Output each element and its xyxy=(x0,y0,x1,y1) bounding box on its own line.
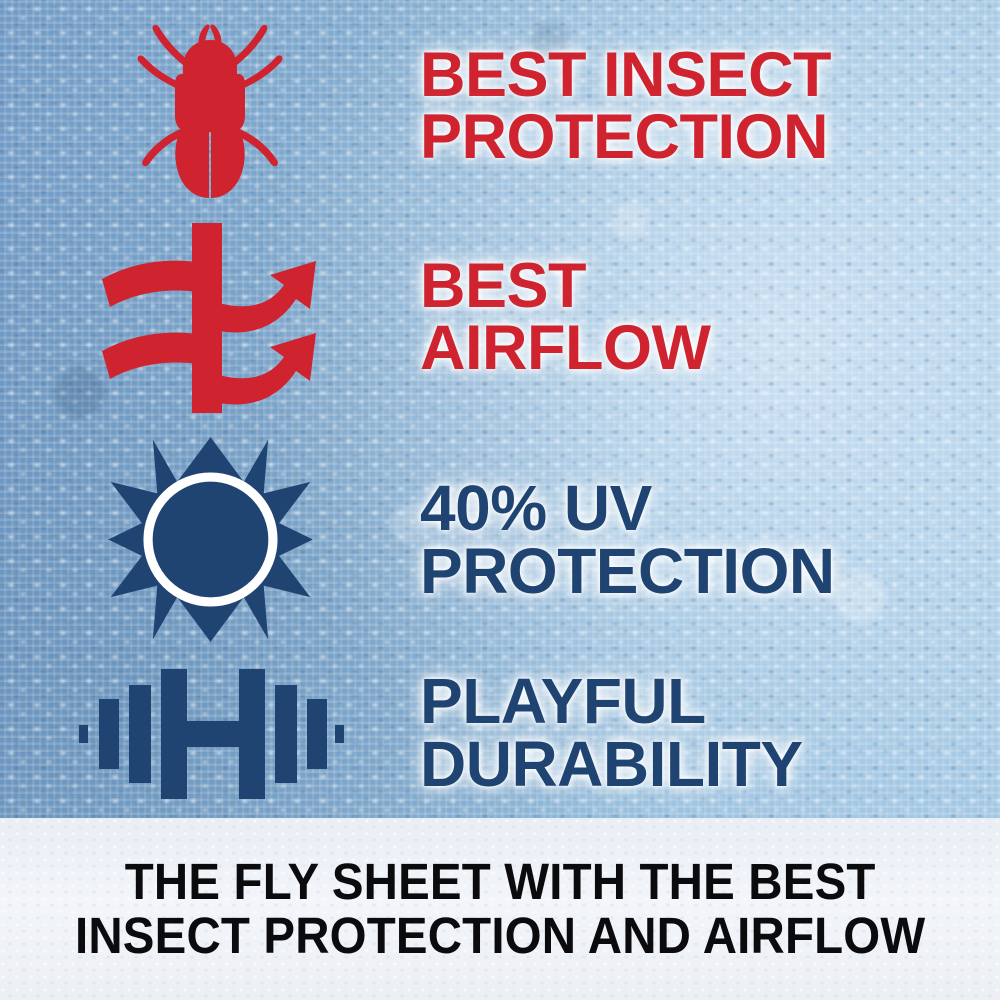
product-feature-infographic: BEST INSECT PROTECTION xyxy=(0,0,1000,1000)
feature-icon-cell-insect xyxy=(0,12,420,202)
feature-row-durability: PLAYFUL DURABILITY xyxy=(0,650,1000,815)
airflow-arrows-icon xyxy=(80,223,340,413)
feature-icon-cell-airflow xyxy=(0,223,420,413)
feature-row-uv: 40% UV PROTECTION xyxy=(0,432,1000,647)
feature-text-cell-durability: PLAYFUL DURABILITY xyxy=(420,670,1000,795)
feature-label-insect: BEST INSECT PROTECTION xyxy=(420,45,984,168)
feature-label-durability: PLAYFUL DURABILITY xyxy=(420,670,984,795)
fly-icon xyxy=(125,12,295,202)
feature-row-insect: BEST INSECT PROTECTION xyxy=(0,12,1000,202)
sun-burst-icon xyxy=(103,437,318,642)
feature-list: BEST INSECT PROTECTION xyxy=(0,0,1000,818)
feature-row-airflow: BEST AIRFLOW xyxy=(0,218,1000,418)
feature-icon-cell-durability xyxy=(0,663,420,803)
feature-label-uv: 40% UV PROTECTION xyxy=(420,477,984,602)
feature-label-airflow: BEST AIRFLOW xyxy=(420,256,984,379)
caption-headline: THE FLY SHEET WITH THE BEST INSECT PROTE… xyxy=(75,855,925,963)
feature-text-cell-airflow: BEST AIRFLOW xyxy=(420,256,1000,379)
feature-text-cell-uv: 40% UV PROTECTION xyxy=(420,477,1000,602)
caption-band: THE FLY SHEET WITH THE BEST INSECT PROTE… xyxy=(0,818,1000,1000)
feature-text-cell-insect: BEST INSECT PROTECTION xyxy=(420,45,1000,168)
barbell-icon xyxy=(79,663,341,803)
feature-icon-cell-uv xyxy=(0,437,420,642)
